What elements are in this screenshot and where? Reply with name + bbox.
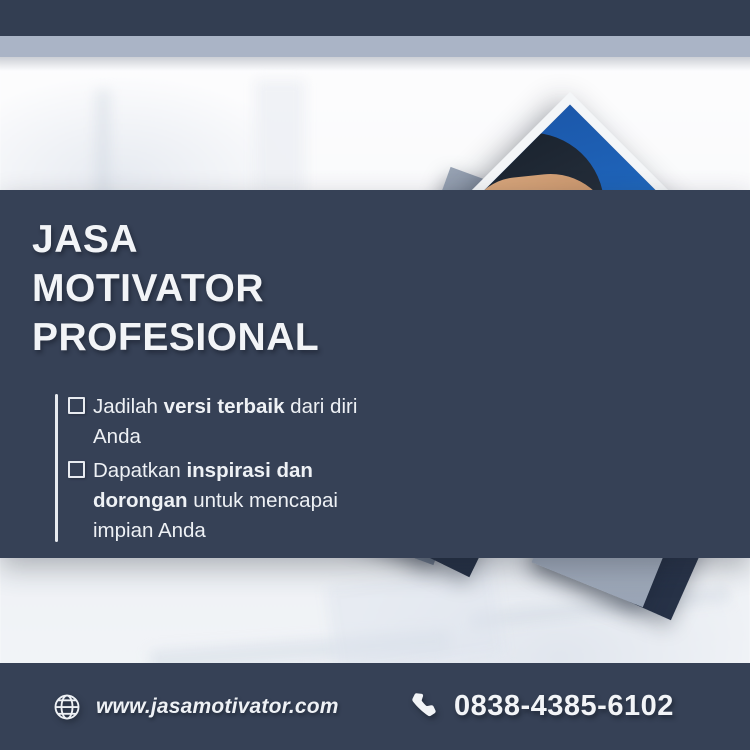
headline-line-3: PROFESIONAL xyxy=(32,313,432,362)
globe-icon xyxy=(52,692,82,722)
poster: JASA MOTIVATOR PROFESIONAL Jadilah versi… xyxy=(0,0,750,750)
list-item-text: Dapatkan inspirasi dan dorongan untuk me… xyxy=(93,456,368,546)
top-navy-band xyxy=(0,0,750,36)
background-streak xyxy=(255,80,305,195)
checkbox-icon xyxy=(68,397,85,414)
list-item-text: Jadilah versi terbaik dari diri Anda xyxy=(93,392,368,452)
website-url: www.jasamotivator.com xyxy=(96,695,339,719)
website-contact[interactable]: www.jasamotivator.com xyxy=(52,692,339,722)
footer-bar: www.jasamotivator.com 0838-4385-6102 xyxy=(0,663,750,750)
top-grey-band xyxy=(0,36,750,57)
list-item: Dapatkan inspirasi dan dorongan untuk me… xyxy=(68,456,368,546)
benefit-list: Jadilah versi terbaik dari diri Anda Dap… xyxy=(68,392,368,550)
bullet-1-bold: versi terbaik xyxy=(164,395,285,418)
list-item: Jadilah versi terbaik dari diri Anda xyxy=(68,392,368,452)
phone-contact[interactable]: 0838-4385-6102 xyxy=(408,690,674,724)
phone-number: 0838-4385-6102 xyxy=(454,690,674,723)
accent-rule xyxy=(55,394,58,542)
band-shadow xyxy=(0,57,750,71)
headline-line-1: JASA xyxy=(32,215,432,264)
phone-icon xyxy=(408,690,442,724)
bullet-2-pre: Dapatkan xyxy=(93,459,186,482)
bullet-1-pre: Jadilah xyxy=(93,395,164,418)
checkbox-icon xyxy=(68,461,85,478)
page-title: JASA MOTIVATOR PROFESIONAL xyxy=(32,215,432,362)
headline-line-2: MOTIVATOR xyxy=(32,264,432,313)
